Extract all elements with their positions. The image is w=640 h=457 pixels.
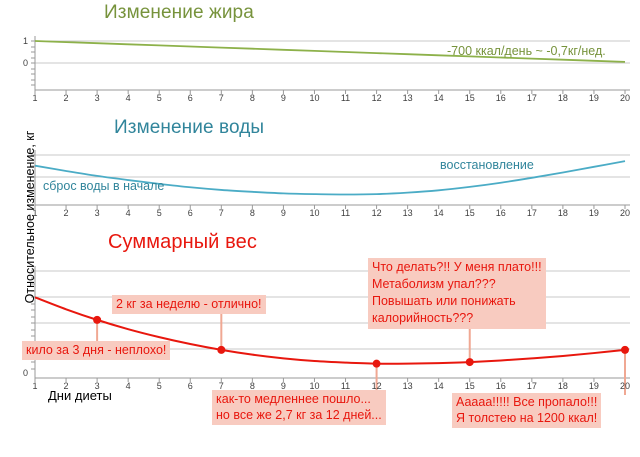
x-tick-label: 16	[493, 381, 509, 391]
data-point-marker	[466, 358, 474, 366]
note-water-drop-start: сброс воды в начале	[43, 179, 164, 193]
total-series-markers	[93, 316, 629, 368]
x-tick-label: 4	[120, 381, 136, 391]
x-tick-label: 13	[400, 208, 416, 218]
x-tick-label: 14	[431, 208, 447, 218]
x-tick-label: 5	[151, 93, 167, 103]
callout-day15-line2: Метаболизм упал???	[372, 276, 542, 293]
data-point-marker	[93, 316, 101, 324]
x-tick-label: 3	[89, 93, 105, 103]
x-tick-label: 14	[431, 381, 447, 391]
x-tick-label: 15	[462, 93, 478, 103]
callout-day3: кило за 3 дня - неплохо!	[22, 341, 170, 360]
x-tick-label: 16	[493, 208, 509, 218]
callout-day12-line1: как-то медленнее пошло...	[216, 391, 382, 407]
callout-day7: 2 кг за неделю - отлично!	[112, 295, 266, 314]
x-tick-label: 17	[524, 208, 540, 218]
callout-day20-line2: Я толстею на 1200 ккал!	[456, 410, 597, 426]
x-tick-label: 1	[27, 381, 43, 391]
callout-day12: как-то медленнее пошло... но все же 2,7 …	[212, 390, 386, 425]
x-tick-label: 7	[213, 208, 229, 218]
x-tick-label: 19	[586, 93, 602, 103]
x-tick-label: 18	[555, 208, 571, 218]
x-tick-label: 13	[400, 93, 416, 103]
x-tick-label: 10	[306, 208, 322, 218]
x-tick-label: 6	[182, 93, 198, 103]
y-tick-label-total-0: 0	[14, 368, 28, 378]
callout-day15: Что делать?!! У меня плато!!! Метаболизм…	[368, 258, 546, 329]
x-tick-label: 2	[58, 93, 74, 103]
x-tick-label: 12	[369, 208, 385, 218]
callout-day15-line3: Повышать или понижать	[372, 293, 542, 310]
x-tick-label: 16	[493, 93, 509, 103]
data-point-marker	[621, 346, 629, 354]
data-point-marker	[373, 360, 381, 368]
x-tick-label: 4	[120, 93, 136, 103]
callout-day20: Аааaа!!!!! Все пропало!!! Я толстею на 1…	[452, 393, 601, 428]
x-tick-label: 5	[151, 208, 167, 218]
x-tick-label: 4	[120, 208, 136, 218]
chart-title-total: Суммарный вес	[108, 231, 257, 254]
x-tick-label: 11	[338, 208, 354, 218]
callout-day15-line4: калорийность???	[372, 310, 542, 327]
y-minor-ticks	[31, 41, 35, 85]
x-tick-label: 6	[182, 208, 198, 218]
x-tick-label: 17	[524, 381, 540, 391]
x-tick-label: 6	[182, 381, 198, 391]
note-calorie-deficit: -700 ккал/день ~ -0,7кг/нед.	[447, 44, 606, 58]
callout-day12-line2: но все же 2,7 кг за 12 дней...	[216, 407, 382, 423]
y-tick-label-fat-0: 0	[14, 58, 28, 68]
callout-day15-line1: Что делать?!! У меня плато!!!	[372, 259, 542, 276]
x-tick-label: 15	[462, 381, 478, 391]
note-water-recovery: восстановление	[440, 158, 534, 172]
x-tick-label: 8	[244, 208, 260, 218]
x-tick-label: 18	[555, 381, 571, 391]
chart-title-water: Изменение воды	[114, 117, 264, 139]
chart-figure: 1 0 1 0 1234567891011121314151617181920 …	[0, 0, 640, 457]
x-tick-label: 1	[27, 93, 43, 103]
data-point-marker	[217, 346, 225, 354]
x-tick-label: 9	[275, 208, 291, 218]
y-axis-caption: Относительное изменение, кг	[23, 107, 37, 327]
x-tick-label: 12	[369, 93, 385, 103]
x-tick-label: 8	[244, 93, 260, 103]
x-tick-label: 2	[58, 208, 74, 218]
callout-day20-line1: Аааaа!!!!! Все пропало!!!	[456, 394, 597, 410]
callout-day3-line1: кило за 3 дня - неплохо!	[26, 342, 166, 358]
x-tick-label: 13	[400, 381, 416, 391]
x-tick-label: 17	[524, 93, 540, 103]
x-axis-caption: Дни диеты	[48, 388, 112, 403]
x-tick-label: 10	[306, 93, 322, 103]
x-tick-label: 15	[462, 208, 478, 218]
y-tick-label-fat-1: 1	[14, 36, 28, 46]
x-tick-label: 19	[586, 381, 602, 391]
x-tick-label: 9	[275, 93, 291, 103]
callout-leader-lines	[97, 274, 625, 395]
x-tick-label: 20	[617, 381, 633, 391]
x-tick-label: 5	[151, 381, 167, 391]
x-tick-label: 11	[338, 93, 354, 103]
x-tick-label: 20	[617, 93, 633, 103]
chart-title-fat: Изменение жира	[104, 2, 254, 24]
x-tick-label: 19	[586, 208, 602, 218]
x-tick-label: 14	[431, 93, 447, 103]
callout-day7-line1: 2 кг за неделю - отлично!	[116, 296, 262, 312]
x-tick-label: 7	[213, 93, 229, 103]
x-tick-label: 3	[89, 208, 105, 218]
x-tick-label: 20	[617, 208, 633, 218]
x-tick-label: 18	[555, 93, 571, 103]
